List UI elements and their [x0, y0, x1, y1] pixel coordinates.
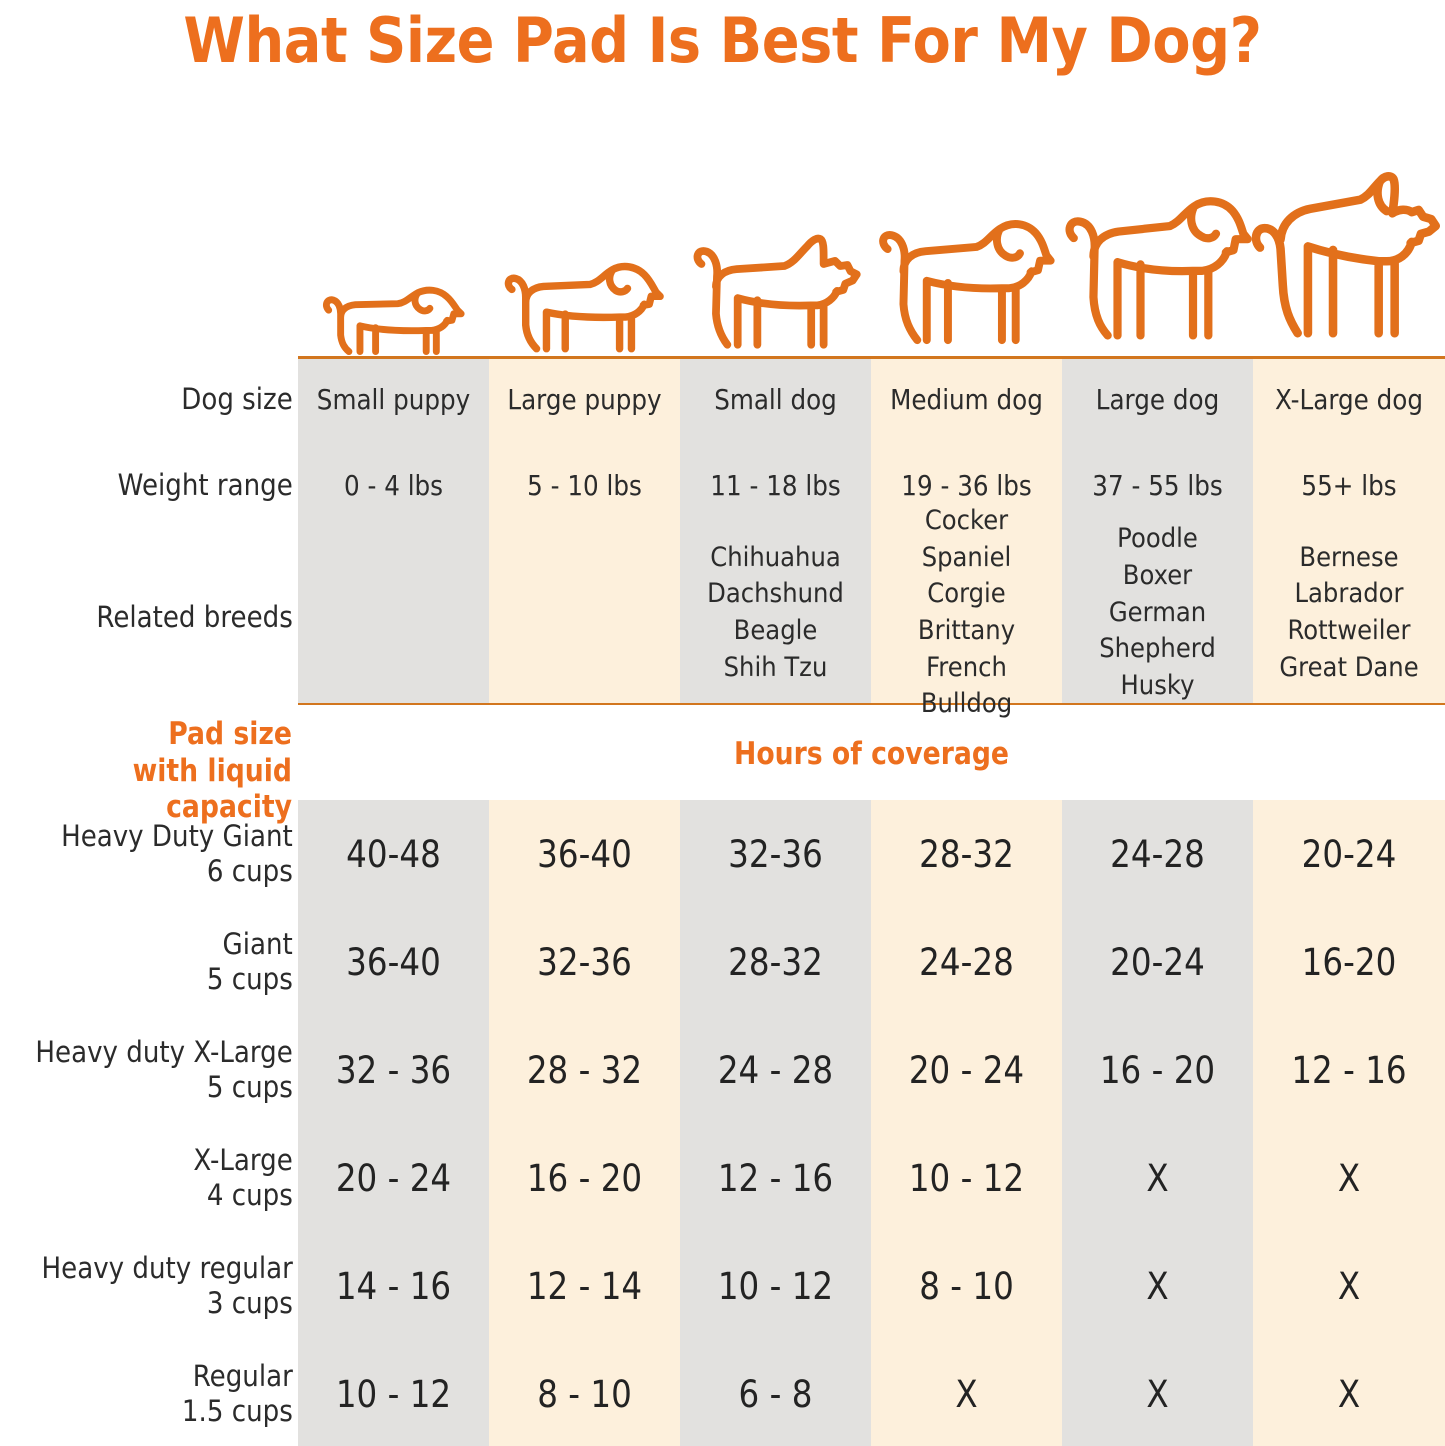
dog-size-cell-1: Small puppy — [309, 372, 477, 428]
lower-column-stripe-4 — [871, 800, 1062, 1446]
hours-cell-r1-c2: 36-40 — [500, 815, 668, 893]
hours-cell-r1-c4: 28-32 — [882, 815, 1050, 893]
dog-silhouette-strip — [298, 150, 1445, 358]
hours-cell-r2-c4: 24-28 — [882, 923, 1050, 1001]
hours-cell-r6-c4: X — [882, 1355, 1050, 1433]
pad-row-name: X-Large — [30, 1143, 293, 1178]
pad-row-capacity: 4 cups — [30, 1178, 293, 1213]
xlarge-dog-silhouette — [1253, 160, 1445, 358]
hours-cell-r2-c6: 16-20 — [1265, 923, 1434, 1001]
hours-cell-r1-c3: 32-36 — [691, 815, 859, 893]
hours-cell-r2-c3: 28-32 — [691, 923, 859, 1001]
row-label-dog-size: Dog size — [30, 372, 300, 428]
row-label-weight-range: Weight range — [30, 458, 300, 514]
row-label-related-breeds: Related breeds — [30, 590, 300, 646]
pad-row-capacity: 6 cups — [30, 854, 293, 889]
pad-row-name: Heavy duty X-Large — [30, 1035, 293, 1070]
hours-cell-r3-c3: 24 - 28 — [691, 1031, 859, 1109]
pad-row-capacity: 5 cups — [30, 962, 293, 997]
pad-row-label-2: Giant5 cups — [30, 923, 300, 1001]
hours-cell-r3-c4: 20 - 24 — [882, 1031, 1050, 1109]
weight-range-cell-2: 5 - 10 lbs — [500, 458, 668, 514]
hours-cell-r3-c6: 12 - 16 — [1265, 1031, 1434, 1109]
hours-cell-r2-c1: 36-40 — [309, 923, 477, 1001]
hours-cell-r4-c3: 12 - 16 — [691, 1139, 859, 1217]
pad-size-heading: Pad size with liquid capacity — [41, 716, 292, 826]
related-breeds-cell-1 — [308, 528, 480, 698]
pad-row-label-5: Heavy duty regular3 cups — [30, 1247, 300, 1325]
dog-size-cell-3: Small dog — [691, 372, 859, 428]
pad-row-label-6: Regular1.5 cups — [30, 1355, 300, 1433]
large-dog-silhouette — [1062, 186, 1253, 358]
hours-cell-r4-c6: X — [1265, 1139, 1434, 1217]
hours-cell-r6-c5: X — [1073, 1355, 1241, 1433]
related-breeds-cell-4: Cocker Spaniel Corgie Brittany French Bu… — [881, 528, 1053, 698]
pad-row-label-1: Heavy Duty Giant6 cups — [30, 815, 300, 893]
hours-of-coverage-heading: Hours of coverage — [378, 736, 1364, 773]
hours-cell-r4-c4: 10 - 12 — [882, 1139, 1050, 1217]
weight-range-cell-5: 37 - 55 lbs — [1073, 458, 1241, 514]
hours-cell-r2-c5: 20-24 — [1073, 923, 1241, 1001]
large-puppy-silhouette — [489, 250, 680, 358]
hours-cell-r4-c1: 20 - 24 — [309, 1139, 477, 1217]
hours-cell-r4-c2: 16 - 20 — [500, 1139, 668, 1217]
hours-cell-r1-c1: 40-48 — [309, 815, 477, 893]
lower-column-stripe-5 — [1062, 800, 1253, 1446]
related-breeds-cell-2 — [499, 528, 671, 698]
hours-cell-r5-c3: 10 - 12 — [691, 1247, 859, 1325]
hours-cell-r6-c6: X — [1265, 1355, 1434, 1433]
hours-cell-r6-c2: 8 - 10 — [500, 1355, 668, 1433]
hours-cell-r1-c5: 24-28 — [1073, 815, 1241, 893]
pad-row-name: Giant — [30, 927, 293, 962]
hours-cell-r1-c6: 20-24 — [1265, 815, 1434, 893]
dog-size-cell-5: Large dog — [1073, 372, 1241, 428]
hours-cell-r5-c2: 12 - 14 — [500, 1247, 668, 1325]
small-puppy-silhouette — [298, 266, 489, 358]
lower-column-stripe-3 — [680, 800, 871, 1446]
pad-row-capacity: 5 cups — [30, 1070, 293, 1105]
hours-cell-r2-c2: 32-36 — [500, 923, 668, 1001]
lower-column-stripe-6 — [1253, 800, 1445, 1446]
hours-cell-r5-c1: 14 - 16 — [309, 1247, 477, 1325]
hours-cell-r5-c5: X — [1073, 1247, 1241, 1325]
pad-row-label-3: Heavy duty X-Large5 cups — [30, 1031, 300, 1109]
lower-column-stripe-2 — [489, 800, 680, 1446]
weight-range-cell-6: 55+ lbs — [1265, 458, 1434, 514]
pad-row-name: Heavy Duty Giant — [30, 819, 293, 854]
medium-dog-silhouette — [871, 210, 1062, 358]
pad-row-label-4: X-Large4 cups — [30, 1139, 300, 1217]
related-breeds-cell-5: Poodle Boxer German Shepherd Husky — [1072, 524, 1244, 702]
hours-cell-r6-c1: 10 - 12 — [309, 1355, 477, 1433]
dog-size-cell-6: X-Large dog — [1265, 372, 1434, 428]
related-breeds-cell-6: Bernese Labrador Rottweiler Great Dane — [1263, 528, 1436, 698]
weight-range-cell-3: 11 - 18 lbs — [691, 458, 859, 514]
pad-row-name: Heavy duty regular — [30, 1251, 293, 1286]
hours-cell-r4-c5: X — [1073, 1139, 1241, 1217]
weight-range-cell-1: 0 - 4 lbs — [309, 458, 477, 514]
hours-cell-r3-c1: 32 - 36 — [309, 1031, 477, 1109]
lower-column-stripe-1 — [298, 800, 489, 1446]
pad-row-capacity: 3 cups — [30, 1286, 293, 1321]
hours-cell-r3-c5: 16 - 20 — [1073, 1031, 1241, 1109]
small-dog-silhouette — [680, 230, 871, 358]
related-breeds-cell-3: Chihuahua Dachshund Beagle Shih Tzu — [690, 528, 862, 698]
hours-cell-r3-c2: 28 - 32 — [500, 1031, 668, 1109]
hours-cell-r5-c4: 8 - 10 — [882, 1247, 1050, 1325]
hours-cell-r5-c6: X — [1265, 1247, 1434, 1325]
pad-row-name: Regular — [30, 1359, 293, 1394]
dog-size-cell-4: Medium dog — [882, 372, 1050, 428]
pad-row-capacity: 1.5 cups — [30, 1394, 293, 1429]
hours-cell-r6-c3: 6 - 8 — [691, 1355, 859, 1433]
page-title: What Size Pad Is Best For My Dog? — [72, 4, 1373, 77]
dog-size-cell-2: Large puppy — [500, 372, 668, 428]
